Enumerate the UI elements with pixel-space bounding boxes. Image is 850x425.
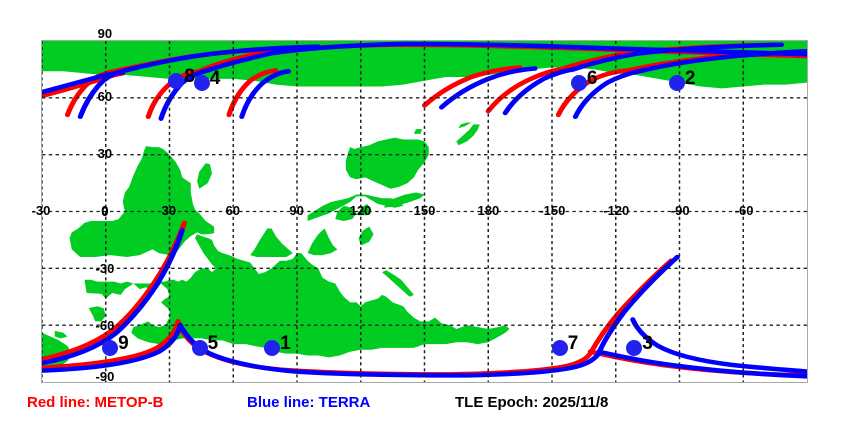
lon-tick--60: -60: [735, 204, 754, 217]
marker-dot-icon: [669, 75, 685, 91]
marker-label: 2: [685, 69, 696, 88]
lon-tick-30: 30: [162, 204, 176, 217]
lat-tick-60: 60: [98, 90, 112, 103]
lon-tick--90: -90: [671, 204, 690, 217]
marker-dot-icon: [194, 75, 210, 91]
marker-label: 6: [587, 69, 598, 88]
legend-metop-b: Red line: METOP-B: [27, 392, 163, 414]
marker-label: 8: [184, 67, 195, 86]
legend-tle-epoch: TLE Epoch: 2025/11/8: [455, 392, 608, 414]
lat-tick-90: 90: [98, 27, 112, 40]
lon-tick-90: 90: [289, 204, 303, 217]
legend-terra: Blue line: TERRA: [247, 392, 370, 414]
marker-dot-icon: [571, 75, 587, 91]
marker-label: 3: [642, 334, 653, 353]
lon-tick-180: 180: [478, 204, 500, 217]
lat-tick--30: -30: [96, 262, 115, 275]
lat-tick--60: -60: [96, 319, 115, 332]
lat-tick-30: 30: [98, 147, 112, 160]
lon-tick-60: 60: [226, 204, 240, 217]
marker-dot-icon: [626, 340, 642, 356]
marker-label: 4: [210, 69, 221, 88]
satellite-ground-track-page: 123456789 -300306090120150180-150-120-90…: [0, 0, 850, 425]
lat-tick-0: 0: [101, 205, 108, 218]
marker-label: 1: [280, 334, 291, 353]
lon-tick--150: -150: [539, 204, 565, 217]
marker-label: 5: [208, 334, 219, 353]
marker-label: 9: [118, 334, 129, 353]
lat-tick--90: -90: [96, 370, 115, 383]
marker-dot-icon: [264, 340, 280, 356]
marker-dot-icon: [192, 340, 208, 356]
lon-tick--120: -120: [603, 204, 629, 217]
legend: Red line: METOP-B Blue line: TERRA TLE E…: [0, 392, 850, 425]
marker-label: 7: [568, 334, 579, 353]
marker-dot-icon: [552, 340, 568, 356]
marker-dot-icon: [102, 340, 118, 356]
lon-tick-120: 120: [350, 204, 372, 217]
lon-tick--30: -30: [32, 204, 51, 217]
lon-tick-150: 150: [414, 204, 436, 217]
